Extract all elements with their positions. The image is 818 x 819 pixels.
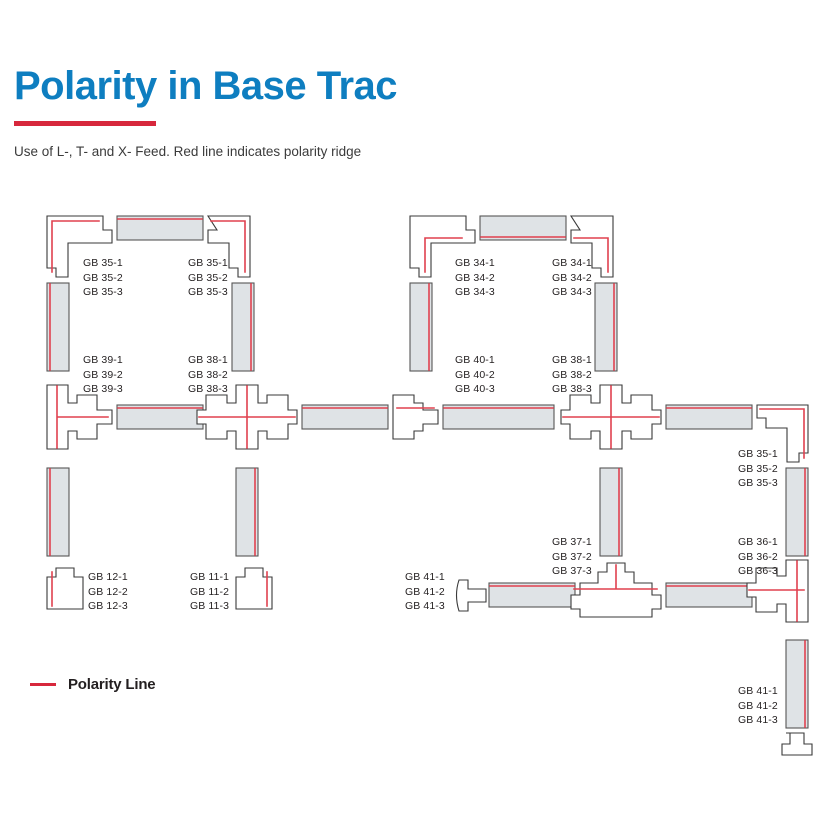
label-gb37: GB 37-1 GB 37-2 GB 37-3	[552, 535, 592, 579]
track-bar-left-upper	[47, 283, 69, 371]
label-gb35-topleft: GB 35-1 GB 35-2 GB 35-3	[83, 256, 123, 300]
track-bar-top-left	[117, 216, 203, 240]
connector-end-cap-gb12	[47, 568, 83, 609]
label-gb36: GB 36-1 GB 36-2 GB 36-3	[738, 535, 778, 579]
track-bar-mid-row-1	[117, 405, 203, 429]
track-bar-bottom-1	[489, 583, 575, 607]
track-bar-bottom-2	[666, 583, 752, 607]
polarity-line-swatch-icon	[30, 683, 56, 686]
label-gb40: GB 40-1 GB 40-2 GB 40-3	[455, 353, 495, 397]
track-bar-far-right-lower	[786, 640, 808, 728]
legend-label: Polarity Line	[68, 676, 155, 693]
connector-end-cap-bottom-right	[782, 733, 812, 755]
track-bar-mid-upper	[232, 283, 254, 371]
track-bar-right-lower	[600, 468, 622, 556]
label-gb41-left: GB 41-1 GB 41-2 GB 41-3	[405, 570, 445, 614]
track-bar-right-upper-right	[595, 283, 617, 371]
label-gb39: GB 39-1 GB 39-2 GB 39-3	[83, 353, 123, 397]
label-gb38-left: GB 38-1 GB 38-2 GB 38-3	[188, 353, 228, 397]
track-bar-right-upper-left	[410, 283, 432, 371]
label-gb11: GB 11-1 GB 11-2 GB 11-3	[190, 570, 229, 614]
label-gb41-right: GB 41-1 GB 41-2 GB 41-3	[738, 684, 778, 728]
legend: Polarity Line	[30, 676, 155, 693]
label-gb34-topleft: GB 34-1 GB 34-2 GB 34-3	[455, 256, 495, 300]
connector-end-cap-gb11	[236, 568, 272, 609]
track-bar-top-right	[480, 216, 566, 240]
label-gb12: GB 12-1 GB 12-2 GB 12-3	[88, 570, 128, 614]
track-layout-illustration	[0, 0, 818, 819]
connector-end-feed-gb41	[457, 580, 487, 611]
label-gb38-right: GB 38-1 GB 38-2 GB 38-3	[552, 353, 592, 397]
track-bar-left-lower	[47, 468, 69, 556]
label-gb35-right: GB 35-1 GB 35-2 GB 35-3	[738, 447, 778, 491]
connector-t-feed-mid-right-1	[393, 395, 438, 439]
label-gb34-topright: GB 34-1 GB 34-2 GB 34-3	[552, 256, 592, 300]
track-bar-mid-row-2	[302, 405, 388, 429]
track-bar-far-right-upper	[786, 468, 808, 556]
track-bar-mid-lower	[236, 468, 258, 556]
track-bar-mid-row-3	[443, 405, 554, 429]
track-bar-mid-row-4	[666, 405, 752, 429]
diagram-canvas: Polarity in Base Trac Use of L-, T- and …	[0, 0, 818, 819]
label-gb35-topright: GB 35-1 GB 35-2 GB 35-3	[188, 256, 228, 300]
